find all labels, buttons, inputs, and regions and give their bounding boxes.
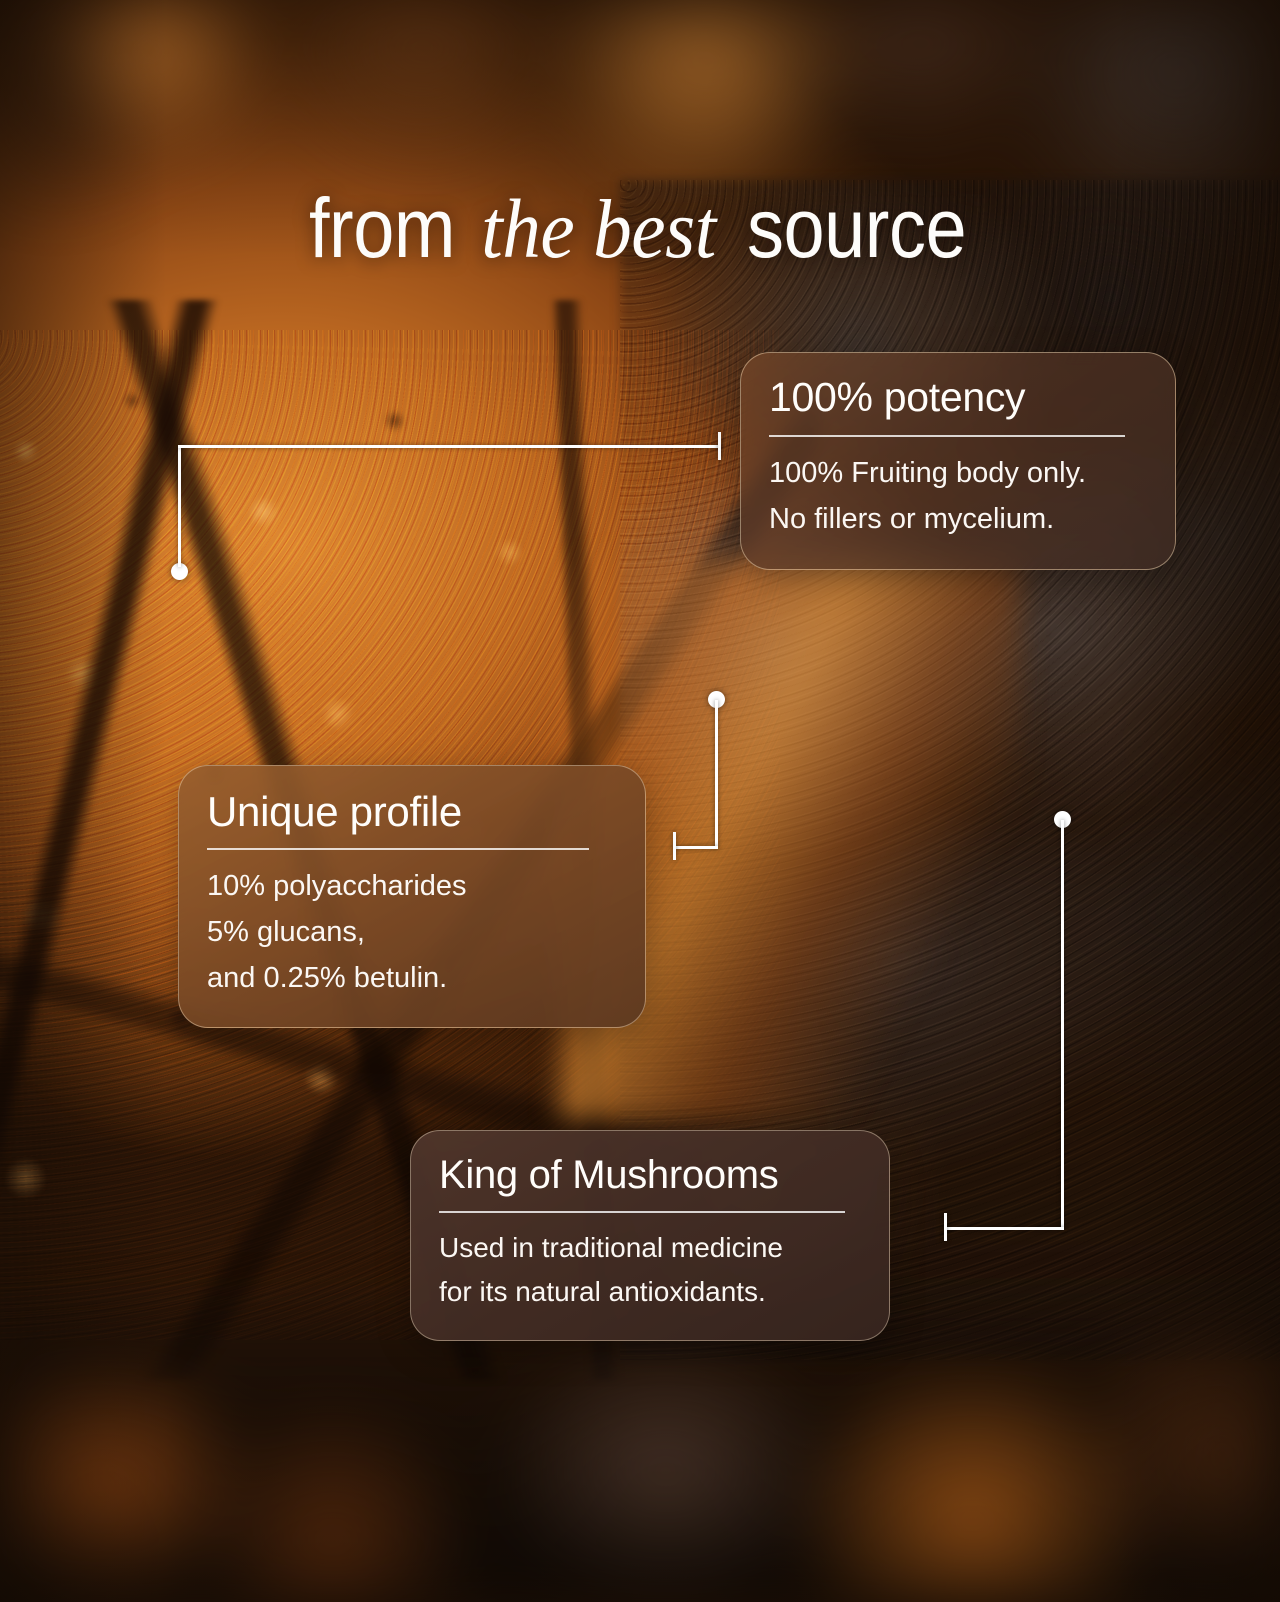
card-body-line: for its natural antioxidants.: [439, 1270, 861, 1314]
card-body-line: 5% glucans,: [207, 910, 617, 956]
leader-segment-horizontal: [674, 846, 718, 849]
callout-card-profile[interactable]: Unique profile 10% polyaccharides 5% glu…: [178, 765, 646, 1028]
card-body-potency: 100% Fruiting body only. No fillers or m…: [769, 451, 1147, 543]
callout-card-king[interactable]: King of Mushrooms Used in traditional me…: [410, 1130, 890, 1341]
leader-segment-vertical: [178, 447, 181, 567]
page-title: from the best source: [0, 186, 1280, 272]
card-title-profile: Unique profile: [207, 788, 617, 835]
headline-emphasis: the best: [476, 188, 722, 272]
card-title-potency: 100% potency: [769, 375, 1147, 421]
leader-segment-vertical: [1061, 820, 1064, 1229]
card-divider: [439, 1211, 845, 1213]
card-divider: [769, 435, 1125, 437]
card-title-king: King of Mushrooms: [439, 1153, 861, 1198]
card-body-king: Used in traditional medicine for its nat…: [439, 1226, 861, 1314]
card-body-line: 10% polyaccharides: [207, 864, 617, 910]
leader-tick-king: [944, 1213, 947, 1241]
leader-segment-vertical: [715, 700, 718, 848]
callout-card-potency[interactable]: 100% potency 100% Fruiting body only. No…: [740, 352, 1176, 570]
card-body-line: Used in traditional medicine: [439, 1226, 861, 1270]
leader-segment-horizontal: [178, 445, 721, 448]
headline-part-one: from: [309, 186, 455, 270]
leader-segment-horizontal: [945, 1227, 1064, 1230]
card-body-line: No fillers or mycelium.: [769, 497, 1147, 543]
card-body-profile: 10% polyaccharides 5% glucans, and 0.25%…: [207, 864, 617, 1001]
headline-part-two: source: [747, 186, 966, 270]
leader-tick-profile: [673, 832, 676, 860]
leader-tick-potency: [718, 432, 721, 460]
card-body-line: and 0.25% betulin.: [207, 956, 617, 1002]
card-body-line: 100% Fruiting body only.: [769, 451, 1147, 497]
infographic-canvas: from the best source 100% potency 100% F…: [0, 0, 1280, 1602]
card-divider: [207, 848, 589, 850]
